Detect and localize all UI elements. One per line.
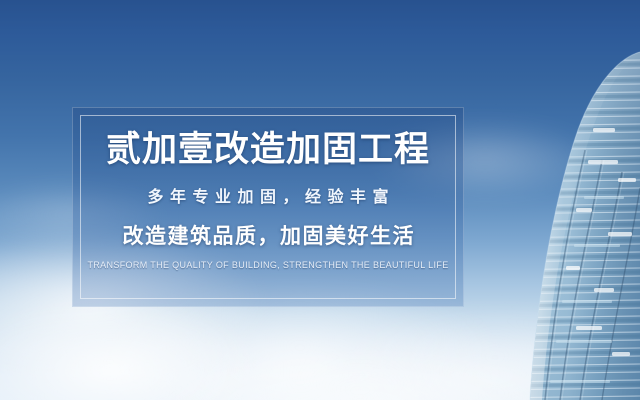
banner-english-tagline: TRANSFORM THE QUALITY OF BUILDING, STREN… [87, 261, 448, 270]
hero-text-panel: 贰加壹改造加固工程 多年专业加固，经验丰富 改造建筑品质，加固美好生活 TRAN… [72, 107, 464, 307]
banner-slogan: 改造建筑品质，加固美好生活 [121, 226, 415, 247]
banner-canvas: 贰加壹改造加固工程 多年专业加固，经验丰富 改造建筑品质，加固美好生活 TRAN… [0, 0, 640, 400]
banner-title: 贰加壹改造加固工程 [106, 132, 430, 167]
hero-text-content: 贰加壹改造加固工程 多年专业加固，经验丰富 改造建筑品质，加固美好生活 TRAN… [72, 107, 464, 307]
skyscraper-image [490, 0, 640, 400]
banner-subtitle: 多年专业加固，经验丰富 [141, 190, 395, 206]
